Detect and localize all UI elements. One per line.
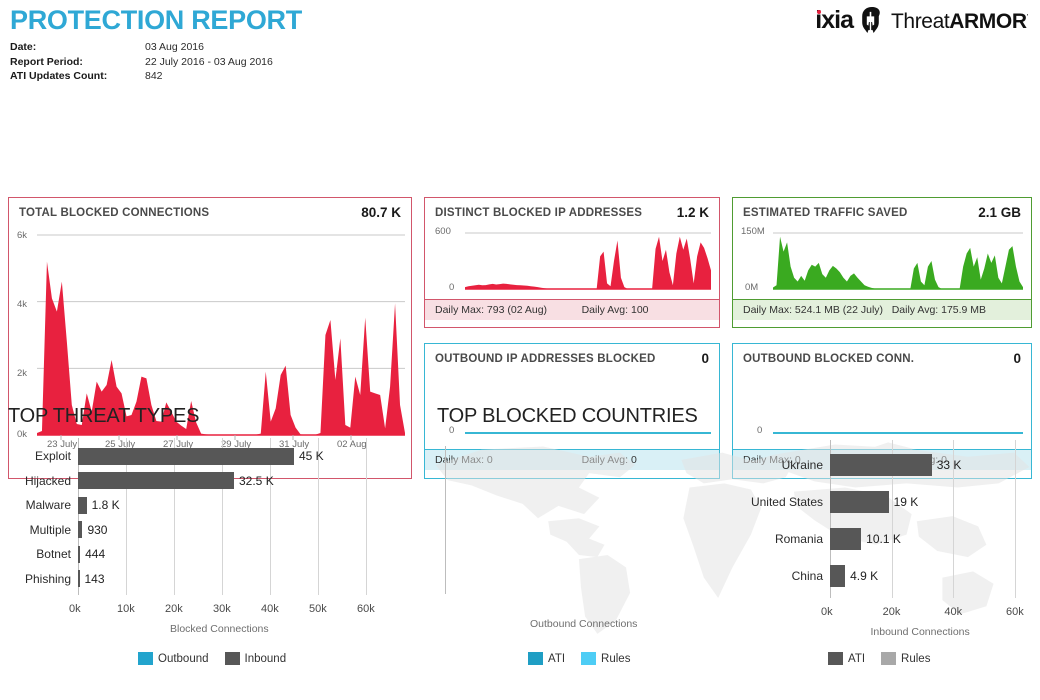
panel-distinct-blocked-ips: DISTINCT BLOCKED IP ADDRESSES 1.2 K 600 …	[424, 197, 720, 328]
section-title-top-threat-types: TOP THREAT TYPES	[8, 405, 199, 428]
bar	[830, 565, 845, 587]
panel-traffic-title: ESTIMATED TRAFFIC SAVED	[743, 207, 908, 219]
panel-distinct-footer: Daily Max: 793 (02 Aug) Daily Avg: 100	[425, 299, 719, 320]
meta-row-date: Date: 03 Aug 2016	[10, 40, 1030, 55]
meta-value-report-period: 22 July 2016 - 03 Aug 2016	[145, 55, 273, 70]
legend-swatch-outbound-rules	[581, 652, 596, 665]
meta-label-date: Date:	[10, 40, 145, 55]
legend-label-outbound-rules: Rules	[601, 653, 630, 665]
bar	[830, 454, 932, 476]
legend-item-outbound-ati: ATI	[528, 652, 565, 665]
panel-outbound-ips-header: OUTBOUND IP ADDRESSES BLOCKED 0	[425, 344, 719, 369]
bar-value-label: 19 K	[894, 495, 919, 509]
panel-traffic-header: ESTIMATED TRAFFIC SAVED 2.1 GB	[733, 198, 1031, 223]
category-label: Hijacked	[0, 474, 71, 488]
category-label: Phishing	[0, 572, 71, 586]
legend-label-outbound-ati: ATI	[548, 653, 565, 665]
meta-value-ati-updates: 842	[145, 69, 163, 84]
top-threat-types-chart: 0k10k20k30k40k50k60kExploit45 KHijacked3…	[0, 438, 420, 638]
report-header: PROTECTION REPORT Date: 03 Aug 2016 Repo…	[0, 0, 1040, 92]
y-tick-600: 600	[435, 226, 451, 237]
meta-row-report-period: Report Period: 22 July 2016 - 03 Aug 201…	[10, 55, 1030, 70]
panel-total-title: TOTAL BLOCKED CONNECTIONS	[19, 207, 209, 219]
trademark-mark: ’	[1027, 13, 1028, 22]
panel-total-value: 80.7 K	[361, 205, 401, 220]
legend-label-outbound: Outbound	[158, 653, 209, 665]
x-tick-label: 10k	[117, 603, 135, 615]
panel-outbound-conn-value: 0	[1013, 351, 1021, 366]
category-label: China	[705, 569, 823, 583]
bar-value-label: 32.5 K	[239, 474, 274, 488]
category-label: Ukraine	[705, 458, 823, 472]
y-tick-0: 0	[449, 282, 454, 293]
y-tick-6k: 6k	[17, 230, 27, 241]
legend-item-inbound-rules: Rules	[881, 652, 930, 665]
bar	[830, 528, 861, 550]
x-tick-label: 60k	[357, 603, 375, 615]
y-tick-2k: 2k	[17, 368, 27, 379]
bar-value-label: 444	[85, 547, 105, 561]
bar	[78, 546, 80, 563]
x-tick-label: 0k	[69, 603, 81, 615]
panel-outbound-conn-header: OUTBOUND BLOCKED CONN. 0	[733, 344, 1031, 369]
legend-swatch-inbound-ati	[828, 652, 843, 665]
category-label: Multiple	[0, 523, 71, 537]
section-title-top-blocked-countries: TOP BLOCKED COUNTRIES	[437, 405, 698, 428]
meta-label-report-period: Report Period:	[10, 55, 145, 70]
threatarmor-suffix: ARMOR	[949, 10, 1026, 33]
y-tick-150m: 150M	[741, 226, 765, 237]
x-axis-caption: Inbound Connections	[871, 626, 970, 638]
traffic-daily-max: Daily Max: 524.1 MB (22 July)	[743, 304, 892, 316]
legend-item-outbound-rules: Rules	[581, 652, 630, 665]
outbound-y-axis-line	[445, 446, 446, 594]
panel-distinct-header: DISTINCT BLOCKED IP ADDRESSES 1.2 K	[425, 198, 719, 223]
gridline	[366, 438, 367, 595]
panel-distinct-title: DISTINCT BLOCKED IP ADDRESSES	[435, 207, 642, 219]
category-label: United States	[705, 495, 823, 509]
brand-logo: ixia ThreatARMOR’	[815, 6, 1028, 34]
category-label: Exploit	[0, 449, 71, 463]
legend-swatch-outbound-ati	[528, 652, 543, 665]
panel-total-header: TOTAL BLOCKED CONNECTIONS 80.7 K	[9, 198, 411, 223]
legend-label-inbound-ati: ATI	[848, 653, 865, 665]
bar	[78, 521, 82, 538]
distinct-daily-avg: Daily Avg: 100	[582, 304, 709, 316]
gridline	[1015, 440, 1016, 598]
distinct-daily-max: Daily Max: 793 (02 Aug)	[435, 304, 582, 316]
legend-label-inbound: Inbound	[245, 653, 287, 665]
legend-threat-types: Outbound Inbound	[138, 652, 286, 665]
legend-item-outbound: Outbound	[138, 652, 209, 665]
traffic-saved-area-plot	[773, 227, 1023, 293]
x-tick-label: 30k	[213, 603, 231, 615]
bar-value-label: 10.1 K	[866, 532, 901, 546]
bar	[78, 472, 234, 489]
y-tick-0m: 0M	[745, 282, 758, 293]
legend-swatch-inbound-rules	[881, 652, 896, 665]
bar-value-label: 143	[85, 572, 105, 586]
bar-value-label: 33 K	[937, 458, 962, 472]
x-tick-label: 40k	[944, 606, 962, 618]
bar-value-label: 4.9 K	[850, 569, 878, 583]
traffic-daily-avg: Daily Avg: 175.9 MB	[892, 304, 1021, 316]
legend-swatch-outbound	[138, 652, 153, 665]
bar	[78, 570, 80, 587]
meta-label-ati-updates: ATI Updates Count:	[10, 69, 145, 84]
bar	[830, 491, 889, 513]
bar	[78, 448, 294, 465]
legend-item-inbound: Inbound	[225, 652, 287, 665]
category-label: Malware	[0, 498, 71, 512]
bar-value-label: 930	[87, 523, 107, 537]
legend-label-inbound-rules: Rules	[901, 653, 930, 665]
bar-value-label: 45 K	[299, 449, 324, 463]
category-label: Botnet	[0, 547, 71, 561]
threatarmor-prefix: Threat	[891, 10, 949, 33]
panel-outbound-ips-value: 0	[701, 351, 709, 366]
x-tick-label: 20k	[883, 606, 901, 618]
panel-outbound-ips-title: OUTBOUND IP ADDRESSES BLOCKED	[435, 353, 656, 365]
panel-traffic-value: 2.1 GB	[978, 205, 1021, 220]
y-tick-4k: 4k	[17, 299, 27, 310]
bar	[78, 497, 87, 514]
x-axis-caption: Blocked Connections	[170, 623, 269, 635]
legend-swatch-inbound	[225, 652, 240, 665]
ixia-wordmark-text: ixia	[815, 6, 853, 34]
x-tick-label: 20k	[165, 603, 183, 615]
panel-total-blocked-connections: TOTAL BLOCKED CONNECTIONS 80.7 K 6k 4k 2…	[8, 197, 412, 479]
panel-outbound-conn-title: OUTBOUND BLOCKED CONN.	[743, 353, 914, 365]
bar-value-label: 1.8 K	[92, 498, 120, 512]
x-tick-label: 60k	[1006, 606, 1024, 618]
legend-outbound-countries: ATI Rules	[528, 652, 630, 665]
threatarmor-wordmark: ThreatARMOR’	[891, 6, 1028, 34]
outbound-connections-axis-caption: Outbound Connections	[530, 618, 637, 630]
panel-estimated-traffic-saved: ESTIMATED TRAFFIC SAVED 2.1 GB 150M 0M D…	[732, 197, 1032, 328]
x-tick-label: 40k	[261, 603, 279, 615]
legend-inbound-countries: ATI Rules	[828, 652, 930, 665]
ixia-wordmark: ixia	[815, 7, 853, 33]
report-meta: Date: 03 Aug 2016 Report Period: 22 July…	[10, 40, 1030, 84]
x-tick-label: 50k	[309, 603, 327, 615]
distinct-blocked-ips-chart: 600 0	[425, 223, 719, 299]
legend-item-inbound-ati: ATI	[828, 652, 865, 665]
estimated-traffic-saved-chart: 150M 0M	[733, 223, 1031, 299]
top-blocked-countries-inbound-chart: 0k20k40k60kUkraine33 KUnited States19 KR…	[740, 438, 1040, 638]
category-label: Romania	[705, 532, 823, 546]
panel-distinct-value: 1.2 K	[677, 205, 709, 220]
distinct-ips-area-plot	[465, 227, 711, 293]
meta-value-date: 03 Aug 2016	[145, 40, 204, 55]
spartan-helmet-icon	[860, 7, 884, 33]
x-tick-label: 0k	[821, 606, 833, 618]
meta-row-ati-updates: ATI Updates Count: 842	[10, 69, 1030, 84]
panel-traffic-footer: Daily Max: 524.1 MB (22 July) Daily Avg:…	[733, 299, 1031, 320]
